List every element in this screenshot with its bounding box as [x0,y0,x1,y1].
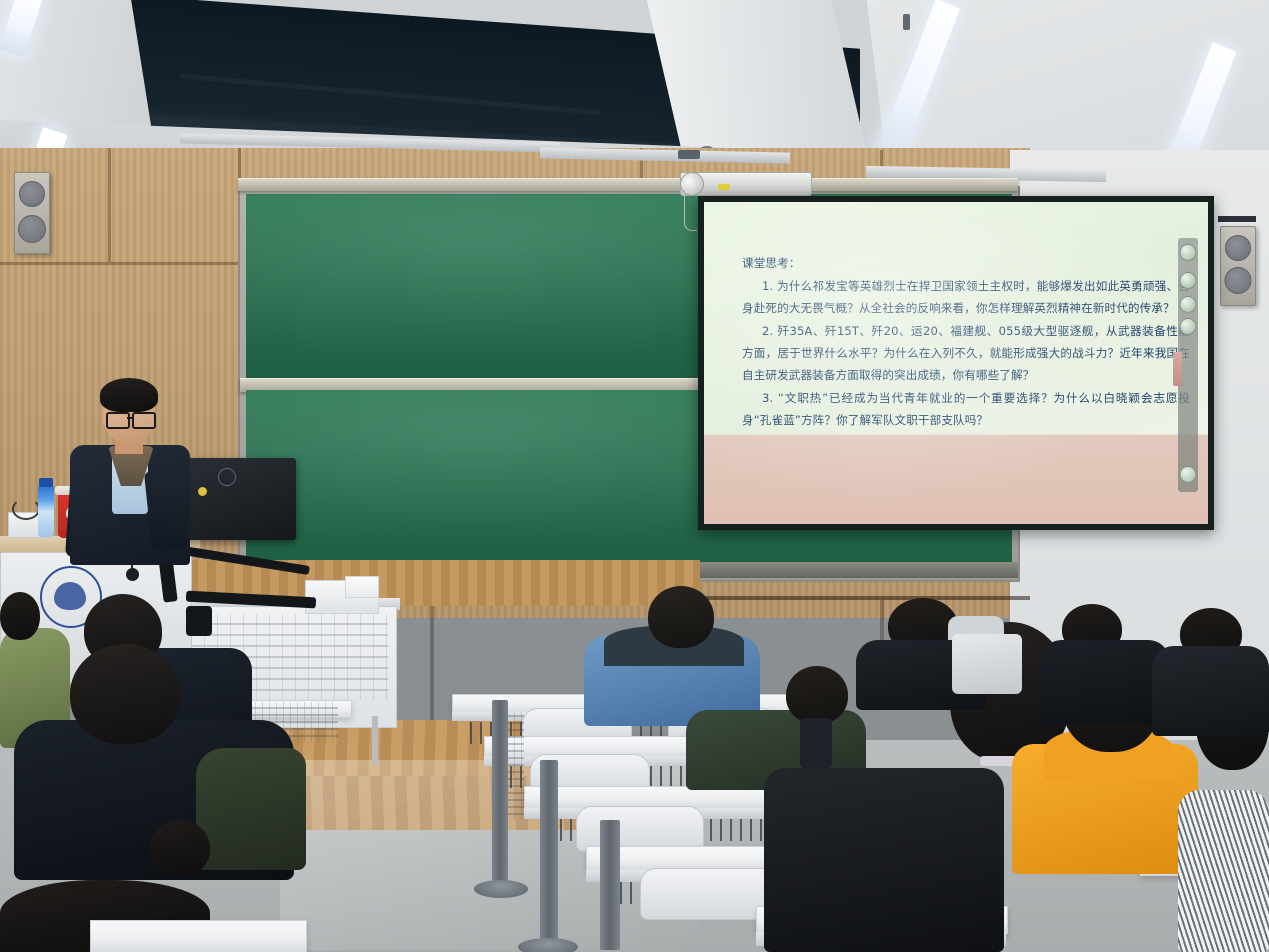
toolbar-button-3-icon[interactable] [1180,296,1197,313]
student-11-arm [196,748,306,870]
chalkboard-top-rail [238,178,1018,191]
toolbar-button-5-icon[interactable] [1180,466,1197,483]
desk-leg-r3a [540,760,558,950]
speaker-bracket [1218,216,1256,222]
student-3-body [764,768,1004,952]
monitor-clamp [186,606,212,636]
classroom-photo: 课堂思考： 1. 为什么祁发宝等英雄烈士在捍卫国家领土主权时，能够爆发出如此英勇… [0,0,1269,952]
student-13-head [150,820,210,876]
dell-logo-icon [218,468,236,486]
wall-seam [430,600,434,732]
wall-speaker-right [1220,226,1256,306]
toolbar-collapse-tab[interactable] [1173,352,1182,386]
slide-item-3: 3. “文职热”已经成为当代青年就业的一个重要选择？为什么以白晓颖会志愿投身“孔… [742,387,1190,431]
toolbar-button-4-icon[interactable] [1180,318,1197,335]
desk-bottom-left [90,920,307,952]
arm-tension-knob [198,487,207,496]
desk-foot-r2a [474,880,528,898]
toolbar-button-2-icon[interactable] [1180,272,1197,289]
student-11-head [70,644,180,744]
wall-seam [108,148,111,262]
slide-item-1: 1. 为什么祁发宝等英雄烈士在捍卫国家领土主权时，能够爆发出如此英勇顽强、舍身赴… [742,275,1190,319]
student-8-body [1152,646,1269,736]
desk-leg-r4a [600,820,620,950]
toolbar-button-1-icon[interactable] [1180,244,1197,261]
microphone-head [126,568,139,581]
instructor-hair [100,378,158,412]
speaker-driver [1225,267,1252,294]
student-2-bottle [800,718,832,768]
instructor-glasses-left-lens [106,412,130,429]
screen-label-tag [718,184,730,190]
cable-coil [12,498,40,520]
student-1-head [648,586,714,648]
instructor-glasses-bridge [127,417,134,419]
student-9-head [0,592,40,640]
screen-mount-bracket [678,150,700,159]
instructor-glasses-right-lens [132,412,156,429]
lectern-leg [372,716,378,764]
slide-text-block: 课堂思考： 1. 为什么祁发宝等英雄烈士在捍卫国家领土主权时，能够爆发出如此英勇… [742,252,1190,432]
student-2-head [786,666,848,724]
bottle-cap [39,478,53,487]
student-7-body [1040,640,1170,724]
student-5-body [1178,790,1269,952]
desk-foot-r3a [518,938,578,952]
slide-heading: 课堂思考： [742,252,1190,274]
wall-speaker-left [14,172,50,254]
speaker-driver [1225,235,1251,261]
slide-item-2: 2. 歼35A、歼15T、歼20、运20、福建舰、055级大型驱逐舰，从武器装备… [742,320,1190,386]
sprinkler-head [903,14,910,30]
desk-side-panel-r2 [508,712,524,820]
speaker-driver [19,181,45,207]
screen-pull-cord[interactable] [684,190,697,231]
speaker-driver [18,215,46,243]
student-white-hood [952,634,1022,694]
lectern-small-box [345,576,379,598]
desk-leg-r2a [492,700,508,890]
water-bottle [38,485,54,537]
